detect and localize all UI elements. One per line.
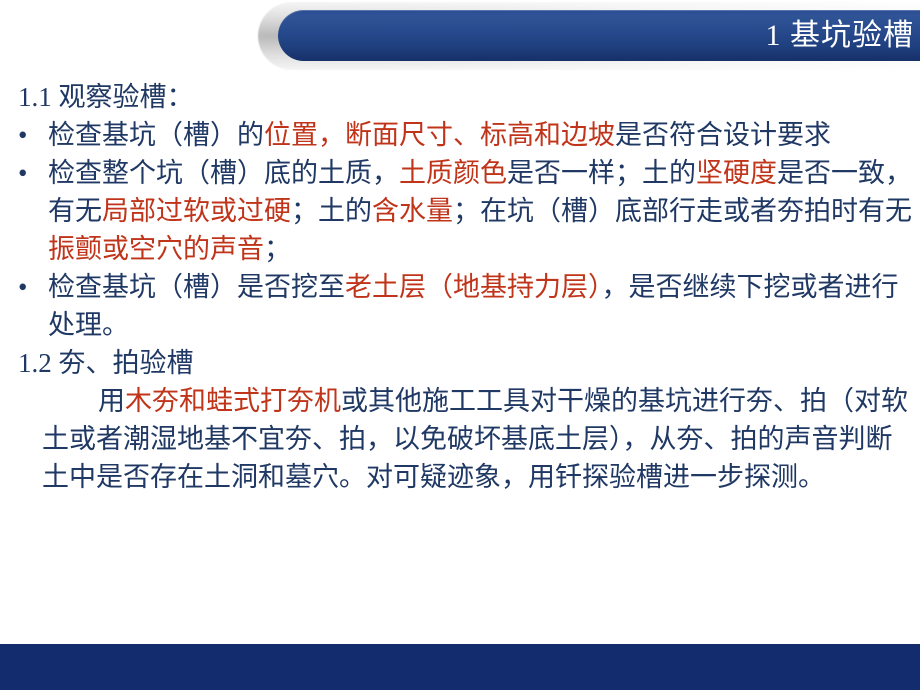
section-paragraph-1-2: 用木夯和蛙式打夯机或其他施工工具对干燥的基坑进行夯、拍（对软土或者潮湿地基不宜夯… [0, 382, 920, 496]
bullet-text-1: 检查基坑（槽）的位置，断面尺寸、标高和边坡是否符合设计要求 [48, 116, 914, 154]
text-run-0: 检查基坑（槽）的 [48, 120, 264, 150]
bullet-marker-icon: • [18, 268, 48, 306]
text-run-2: 是否符合设计要求 [615, 120, 831, 150]
text-run-9: 振颤或空穴的声音 [48, 234, 264, 264]
bullet-marker-icon: • [18, 154, 48, 192]
text-run-8: ；在坑（槽）底部行走或者夯拍时有无 [453, 196, 912, 226]
text-run-1: 土质颜色 [399, 158, 507, 188]
text-run-0: 检查整个坑（槽）底的土质， [48, 158, 399, 188]
bullet-item-1: • 检查基坑（槽）的位置，断面尺寸、标高和边坡是否符合设计要求 [0, 116, 920, 154]
bullet-item-2: • 检查整个坑（槽）底的土质，土质颜色是否一样；土的坚硬度是否一致，有无局部过软… [0, 154, 920, 268]
text-run-2: 是否一样；土的 [507, 158, 696, 188]
header-title-bar: 1 基坑验槽 [278, 10, 920, 61]
text-run-1: 木夯和蛙式打夯机 [125, 386, 341, 416]
slide-content: 1.1 观察验槽： • 检查基坑（槽）的位置，断面尺寸、标高和边坡是否符合设计要… [0, 78, 920, 643]
bullet-text-3: 检查基坑（槽）是否挖至老土层（地基持力层），是否继续下挖或者进行处理。 [48, 268, 914, 344]
text-run-0: 检查基坑（槽）是否挖至 [48, 272, 345, 302]
section-heading-1-2: 1.2 夯、拍验槽 [0, 344, 920, 382]
text-run-3: 坚硬度 [696, 158, 777, 188]
text-run-1: 老土层（地基持力层） [345, 272, 602, 302]
slide-title: 1 基坑验槽 [766, 21, 915, 51]
section-heading-1-1: 1.1 观察验槽： [0, 78, 920, 116]
text-run-6: ；土的 [291, 196, 372, 226]
text-run-10: ； [264, 234, 291, 264]
bullet-text-2: 检查整个坑（槽）底的土质，土质颜色是否一样；土的坚硬度是否一致，有无局部过软或过… [48, 154, 914, 268]
text-run-7: 含水量 [372, 196, 453, 226]
text-run-0: 用 [98, 386, 125, 416]
bullet-item-3: • 检查基坑（槽）是否挖至老土层（地基持力层），是否继续下挖或者进行处理。 [0, 268, 920, 344]
slide-footer-bar [0, 644, 920, 690]
text-run-5: 局部过软或过硬 [102, 196, 291, 226]
slide-header: 1 基坑验槽 [0, 0, 920, 78]
bullet-marker-icon: • [18, 116, 48, 154]
text-run-1: 位置，断面尺寸、标高和边坡 [264, 120, 615, 150]
